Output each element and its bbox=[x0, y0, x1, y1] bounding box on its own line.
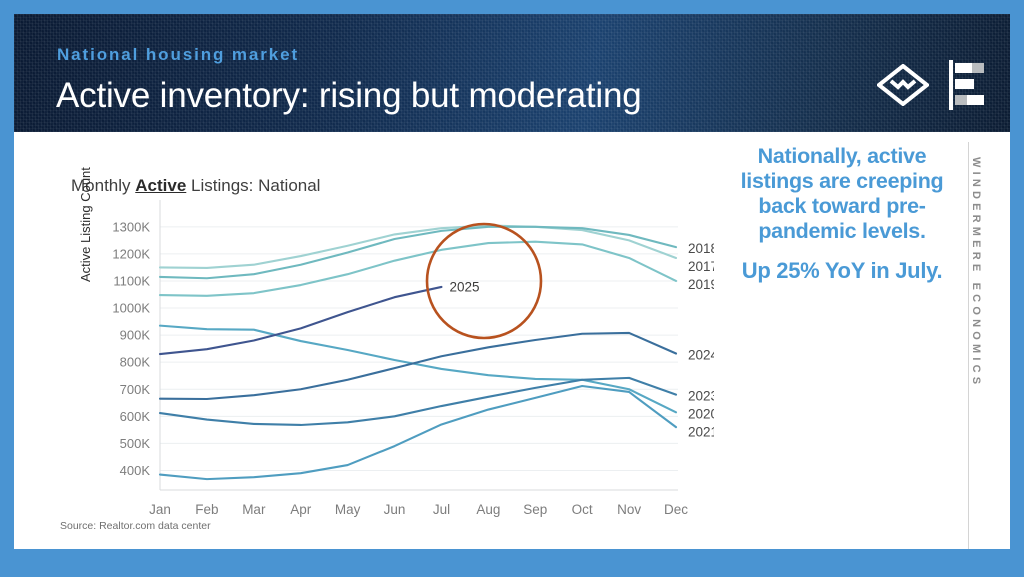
x-axis-tick: Sep bbox=[523, 502, 547, 517]
callout-main-text: Nationally, active listings are creeping… bbox=[726, 144, 958, 244]
series-end-label: 2024 bbox=[688, 348, 714, 363]
y-axis-tick: 1300K bbox=[112, 219, 150, 234]
callout-block: Nationally, active listings are creeping… bbox=[726, 144, 958, 284]
chart-series-line bbox=[160, 287, 441, 354]
series-end-label: 2017 bbox=[688, 259, 714, 274]
page-title: Active inventory: rising but moderating bbox=[56, 76, 642, 116]
windermere-e-bars-icon bbox=[949, 60, 985, 110]
source-note: Source: Realtor.com data center bbox=[60, 520, 211, 532]
vertical-divider bbox=[968, 142, 969, 549]
slide-root: National housing market Active inventory… bbox=[0, 0, 1024, 577]
x-axis-tick: Dec bbox=[664, 502, 688, 517]
series-end-label: 2023 bbox=[688, 389, 714, 404]
brand-logo-group bbox=[877, 60, 985, 110]
x-axis-tick: Aug bbox=[476, 502, 500, 517]
chart-panel: Monthly Active Listings: National Active… bbox=[14, 132, 714, 549]
chart-series-line bbox=[160, 326, 676, 413]
slide-card: National housing market Active inventory… bbox=[14, 14, 1010, 549]
series-end-label: 2019 bbox=[688, 277, 714, 292]
x-axis-tick: Jul bbox=[433, 502, 450, 517]
chart-series-line bbox=[160, 225, 676, 268]
x-axis-tick: May bbox=[335, 502, 361, 517]
chart-series-line bbox=[160, 378, 676, 425]
x-axis-tick: Feb bbox=[195, 502, 218, 517]
x-axis-tick: Nov bbox=[617, 502, 641, 517]
header-eyebrow: National housing market bbox=[57, 45, 299, 65]
x-axis-tick: Jun bbox=[384, 502, 406, 517]
chart-series-line bbox=[160, 386, 676, 479]
x-axis-tick: Oct bbox=[572, 502, 593, 517]
callout-sub-text: Up 25% YoY in July. bbox=[726, 258, 958, 284]
y-axis-tick: 1200K bbox=[112, 246, 150, 261]
windermere-w-diamond-icon bbox=[877, 64, 929, 106]
y-axis-tick: 700K bbox=[120, 382, 151, 397]
y-axis-tick: 900K bbox=[120, 328, 151, 343]
series-end-label: 2020 bbox=[688, 407, 714, 422]
series-end-label: 2021 bbox=[688, 425, 714, 440]
x-axis-tick: Apr bbox=[290, 502, 312, 517]
x-axis-tick: Jan bbox=[149, 502, 171, 517]
y-axis-tick: 400K bbox=[120, 463, 151, 478]
series-inline-label-2025: 2025 bbox=[449, 279, 479, 294]
y-axis-tick: 600K bbox=[120, 409, 151, 424]
y-axis-tick: 1100K bbox=[113, 273, 150, 288]
series-end-label: 2018 bbox=[688, 241, 714, 256]
x-axis-tick: Mar bbox=[242, 502, 266, 517]
y-axis-tick: 1000K bbox=[112, 301, 150, 316]
chart-series-line bbox=[160, 242, 676, 296]
line-chart-plot: 400K500K600K700K800K900K1000K1100K1200K1… bbox=[14, 132, 714, 549]
y-axis-tick: 500K bbox=[120, 436, 151, 451]
brand-vertical-label: WINDERMERE ECONOMICS bbox=[970, 157, 982, 407]
y-axis-tick: 800K bbox=[120, 355, 151, 370]
header-band: National housing market Active inventory… bbox=[14, 14, 1010, 132]
